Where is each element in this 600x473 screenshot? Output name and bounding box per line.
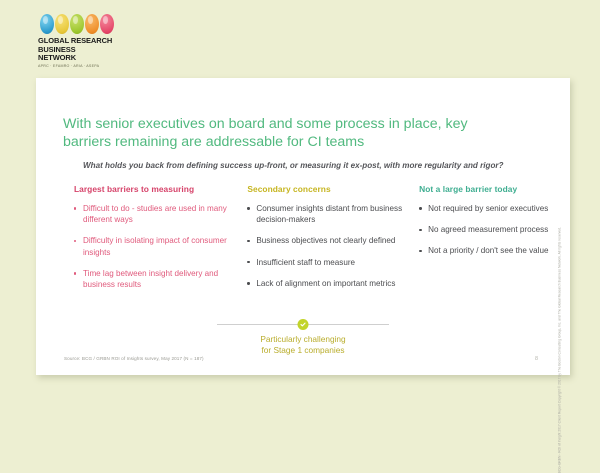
slide-title: With senior executives on board and some…: [63, 115, 515, 151]
grbn-logo: GLOBAL RESEARCH BUSINESS NETWORK APRC · …: [38, 13, 114, 68]
logo-dot-orange: [85, 14, 99, 34]
logo-dot-blue: [40, 14, 54, 34]
logo-dot-red: [100, 14, 114, 34]
list-item: Business objectives not clearly defined: [247, 235, 403, 246]
copyright-notice: BCG-GRBN - ROI of Insight 2017 Client Re…: [558, 363, 562, 473]
callout-line-2: for Stage 1 companies: [217, 345, 389, 356]
callout-block: Particularly challenging for Stage 1 com…: [217, 319, 389, 356]
page-number: 8: [535, 356, 538, 362]
list-item: Time lag between insight delivery and bu…: [74, 268, 233, 290]
list-item: Not required by senior executives: [419, 203, 564, 214]
barrier-columns: Largest barriers to measuring Difficult …: [36, 184, 570, 300]
column-header-secondary-concerns: Secondary concerns: [247, 184, 403, 194]
list-item: Lack of alignment on important metrics: [247, 278, 403, 289]
slide-question: What holds you back from defining succes…: [83, 160, 538, 171]
list-item: Insufficient staff to measure: [247, 257, 403, 268]
logo-tagline: APRC · EFAMRO · ARIA · ASEPA: [38, 64, 114, 68]
list-item: Consumer insights distant from business …: [247, 203, 403, 225]
slide-card: With senior executives on board and some…: [36, 78, 570, 375]
logo-dots: [40, 13, 114, 34]
column-header-largest-barriers: Largest barriers to measuring: [74, 184, 233, 194]
column-secondary-concerns: Secondary concerns Consumer insights dis…: [239, 184, 409, 300]
logo-dot-green: [70, 14, 84, 34]
list-item: No agreed measurement process: [419, 224, 564, 235]
source-note: Source: BCG / GRBN ROI of Insights surve…: [64, 356, 204, 361]
callout-line-1: Particularly challenging: [217, 334, 389, 345]
list-item: Difficult to do - studies are used in ma…: [74, 203, 233, 225]
column-not-a-barrier: Not a large barrier today Not required b…: [409, 184, 570, 300]
column-header-not-a-barrier: Not a large barrier today: [419, 184, 564, 194]
logo-dot-yellow: [55, 14, 69, 34]
callout-divider: [217, 319, 389, 330]
bullet-list-not-a-barrier: Not required by senior executives No agr…: [419, 203, 564, 257]
logo-wordmark: GLOBAL RESEARCH BUSINESS NETWORK: [38, 37, 114, 63]
bullet-list-secondary-concerns: Consumer insights distant from business …: [247, 203, 403, 289]
column-largest-barriers: Largest barriers to measuring Difficult …: [36, 184, 239, 300]
bullet-list-largest-barriers: Difficult to do - studies are used in ma…: [74, 203, 233, 290]
check-circle-icon: [298, 319, 309, 330]
list-item: Difficulty in isolating impact of consum…: [74, 235, 233, 257]
list-item: Not a priority / don't see the value: [419, 245, 564, 256]
